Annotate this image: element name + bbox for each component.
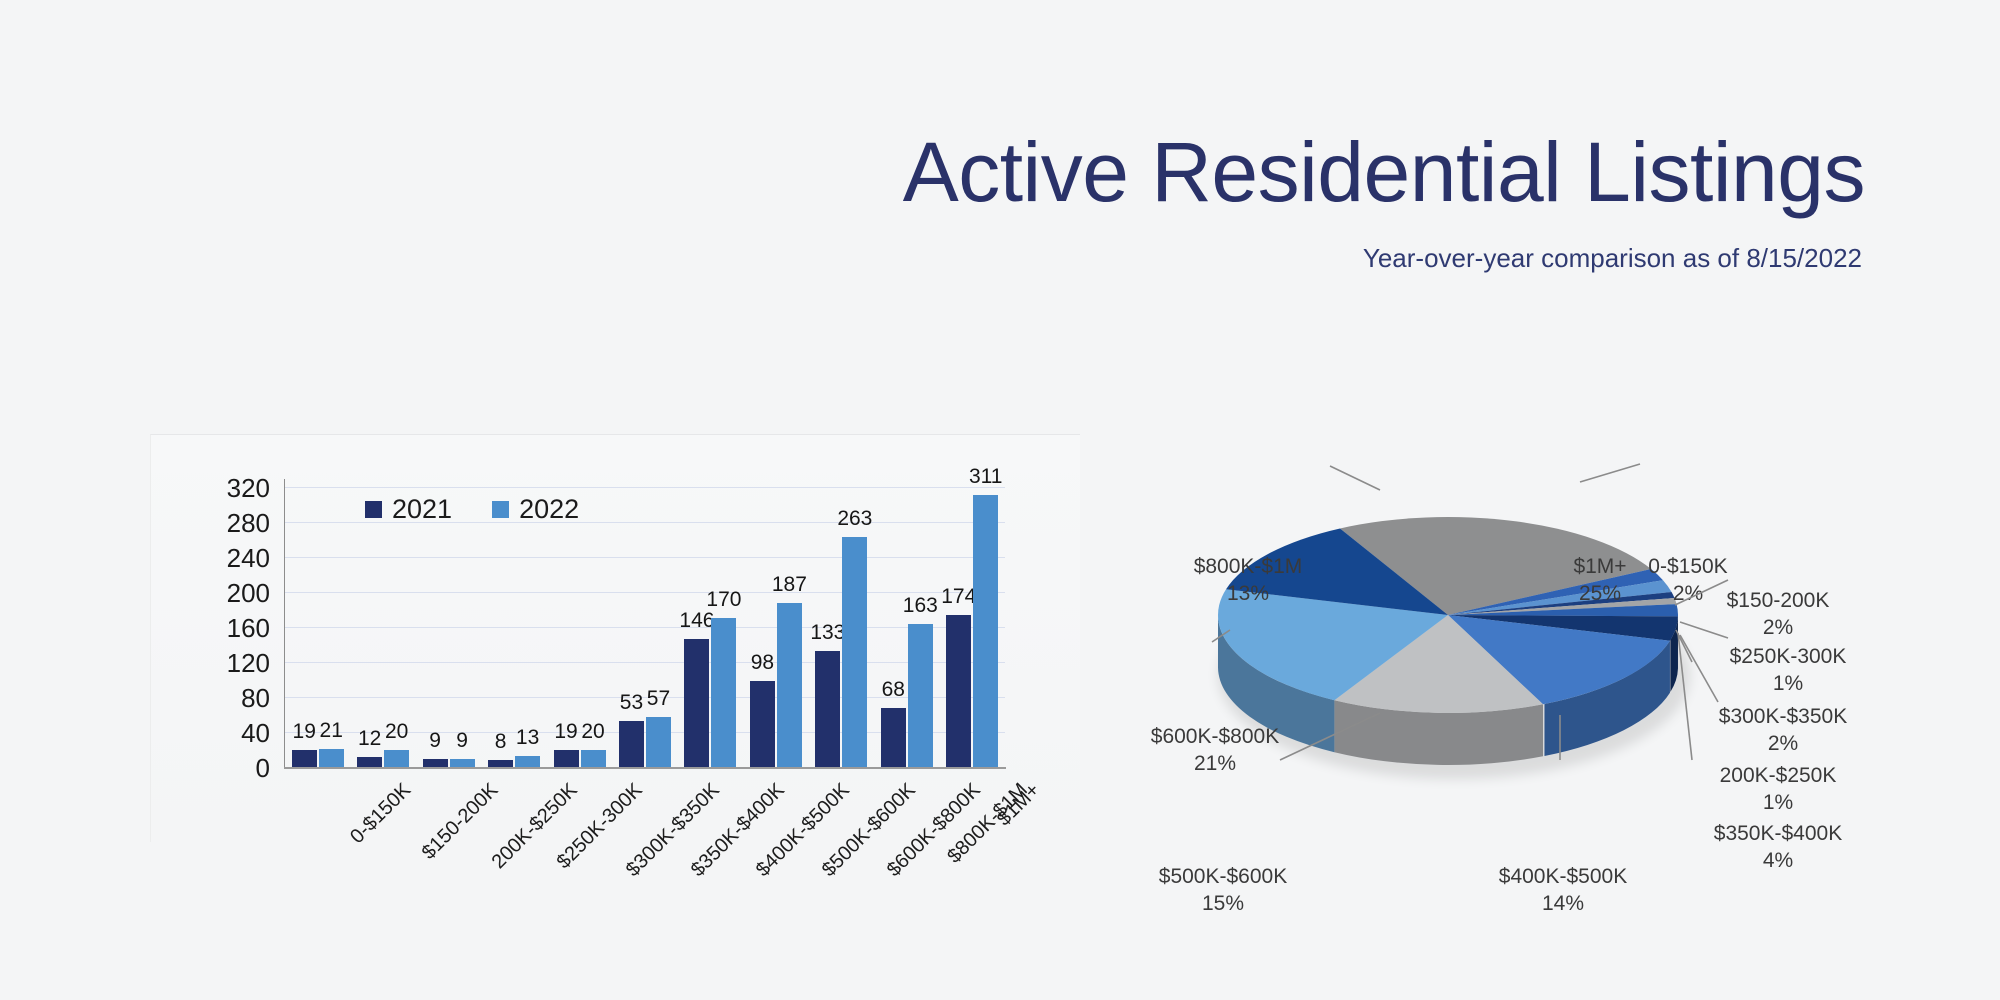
pie-callout-label: $300K-$350K [1703, 703, 1863, 730]
pie-callout-label: $800K-$1M [1173, 553, 1323, 580]
bar-2021 [292, 750, 317, 767]
bar-value-label: 8 [495, 730, 507, 754]
bar-2022 [777, 603, 802, 767]
header: Active Residential Listings Year-over-ye… [0, 0, 2000, 300]
bar-2021 [488, 760, 513, 767]
bar-value-label: 57 [647, 687, 670, 711]
x-axis-label: $1M+ [993, 779, 1045, 831]
pie-callout-value: 2% [1703, 730, 1863, 757]
x-axis-label: $150-200K [418, 779, 503, 864]
bar-value-label: 170 [706, 588, 741, 612]
bar-group: 146170 [678, 487, 743, 767]
pie-callout-label: $250K-300K [1713, 643, 1863, 670]
bar-chart-legend: 20212022 [365, 494, 579, 525]
bar-2022 [319, 749, 344, 767]
bar-2021 [750, 681, 775, 767]
bar-2022 [711, 618, 736, 767]
bar-group: 813 [481, 487, 546, 767]
pie-callout-label: 0-$150K [1623, 553, 1753, 580]
bar-group: 99 [416, 487, 481, 767]
bar-2022 [450, 759, 475, 767]
y-axis-tick: 0 [190, 753, 270, 784]
legend-label: 2021 [392, 494, 452, 525]
pie-callout-$350K-$400K: $350K-$400K4% [1698, 820, 1858, 875]
bar-value-label: 146 [679, 609, 714, 633]
bar-value-label: 21 [320, 719, 343, 743]
pie-callout-label: $500K-$600K [1143, 863, 1303, 890]
y-axis-tick: 200 [190, 578, 270, 609]
y-axis-tick: 80 [190, 683, 270, 714]
bar-value-label: 19 [554, 720, 577, 744]
pie-callout-value: 1% [1713, 670, 1863, 697]
bar-2021 [946, 615, 971, 767]
legend-item-2021[interactable]: 2021 [365, 494, 452, 525]
y-axis-tick: 280 [190, 508, 270, 539]
pie-callout-$250K-300K: $250K-300K1% [1713, 643, 1863, 698]
bar-value-label: 20 [385, 720, 408, 744]
bar-value-label: 20 [581, 720, 604, 744]
y-axis-tick: 160 [190, 613, 270, 644]
pie-callout-label: $350K-$400K [1698, 820, 1858, 847]
bar-2022 [973, 495, 998, 767]
bar-2021 [815, 651, 840, 767]
pie-callout-label: $150-200K [1703, 587, 1853, 614]
y-axis-tick: 320 [190, 473, 270, 504]
legend-label: 2022 [519, 494, 579, 525]
pie-callout-$400K-$500K: $400K-$500K14% [1483, 863, 1643, 918]
pie-callout-value: 15% [1143, 890, 1303, 917]
x-axis-line [284, 767, 1006, 769]
x-axis-label: 0-$150K [346, 779, 416, 849]
pie-callout-value: 2% [1703, 614, 1853, 641]
pie-callout-$300K-$350K: $300K-$350K2% [1703, 703, 1863, 758]
bar-value-label: 174 [941, 585, 976, 609]
bar-2022 [908, 624, 933, 767]
pie-callout-$150-200K: $150-200K2% [1703, 587, 1853, 642]
bar-2022 [384, 750, 409, 768]
bar-value-label: 9 [429, 729, 441, 753]
pie-callout-$800K-$1M: $800K-$1M13% [1173, 553, 1323, 608]
bar-value-label: 13 [516, 726, 539, 750]
bar-group: 1920 [547, 487, 612, 767]
bar-group: 174311 [940, 487, 1005, 767]
y-axis-tick: 240 [190, 543, 270, 574]
y-axis-tick: 40 [190, 718, 270, 749]
bar-group: 1921 [285, 487, 350, 767]
bar-group: 5357 [612, 487, 677, 767]
bar-plot-area: 1921122099813192053571461709818713326368… [285, 487, 1005, 767]
bar-group: 133263 [809, 487, 874, 767]
bar-value-label: 311 [969, 465, 1002, 489]
pie-callout-label: 200K-$250K [1703, 762, 1853, 789]
bar-group: 1220 [350, 487, 415, 767]
pie-callout-$600K-$800K: $600K-$800K21% [1135, 723, 1295, 778]
y-axis-tick: 120 [190, 648, 270, 679]
legend-swatch-icon [365, 501, 382, 518]
bar-value-label: 98 [751, 651, 774, 675]
bar-value-label: 133 [810, 621, 845, 645]
bar-group: 98187 [743, 487, 808, 767]
bar-value-label: 68 [882, 678, 905, 702]
bar-2021 [423, 759, 448, 767]
bar-value-label: 53 [620, 691, 643, 715]
bar-2022 [581, 750, 606, 768]
bar-value-label: 263 [837, 507, 872, 531]
y-axis-ticks: 32028024020016012080400 [170, 434, 270, 734]
pie-callout-value: 13% [1173, 580, 1323, 607]
pie-3d-stage: $1M+25%0-$150K2%$150-200K2%$250K-300K1%$… [1080, 430, 1920, 890]
bar-2022 [515, 756, 540, 767]
bar-group: 68163 [874, 487, 939, 767]
page-title: Active Residential Listings [903, 130, 1865, 214]
bar-value-label: 187 [772, 573, 807, 597]
pie-callout-label: $400K-$500K [1483, 863, 1643, 890]
pie-callout-200K-$250K: 200K-$250K1% [1703, 762, 1853, 817]
page-subtitle: Year-over-year comparison as of 8/15/202… [1363, 243, 1862, 274]
bar-chart: 32028024020016012080400 1921122099813192… [150, 434, 1090, 864]
bar-2021 [881, 708, 906, 768]
pie-callout-value: 1% [1703, 789, 1853, 816]
pie-callout-value: 14% [1483, 890, 1643, 917]
pie-chart: $1M+25%0-$150K2%$150-200K2%$250K-300K1%$… [1080, 430, 1920, 890]
bar-value-label: 9 [456, 729, 468, 753]
pie-callout-value: 4% [1698, 847, 1858, 874]
bar-value-label: 19 [293, 720, 316, 744]
legend-item-2022[interactable]: 2022 [492, 494, 579, 525]
bar-2021 [619, 721, 644, 767]
pie-callout-value: 21% [1135, 750, 1295, 777]
bar-2021 [684, 639, 709, 767]
pie-callout-$500K-$600K: $500K-$600K15% [1143, 863, 1303, 918]
bar-value-label: 12 [358, 727, 381, 751]
legend-swatch-icon [492, 501, 509, 518]
bar-2022 [646, 717, 671, 767]
bar-value-label: 163 [903, 594, 938, 618]
bar-2021 [554, 750, 579, 767]
bar-2021 [357, 757, 382, 768]
pie-callout-label: $600K-$800K [1135, 723, 1295, 750]
bar-2022 [842, 537, 867, 767]
